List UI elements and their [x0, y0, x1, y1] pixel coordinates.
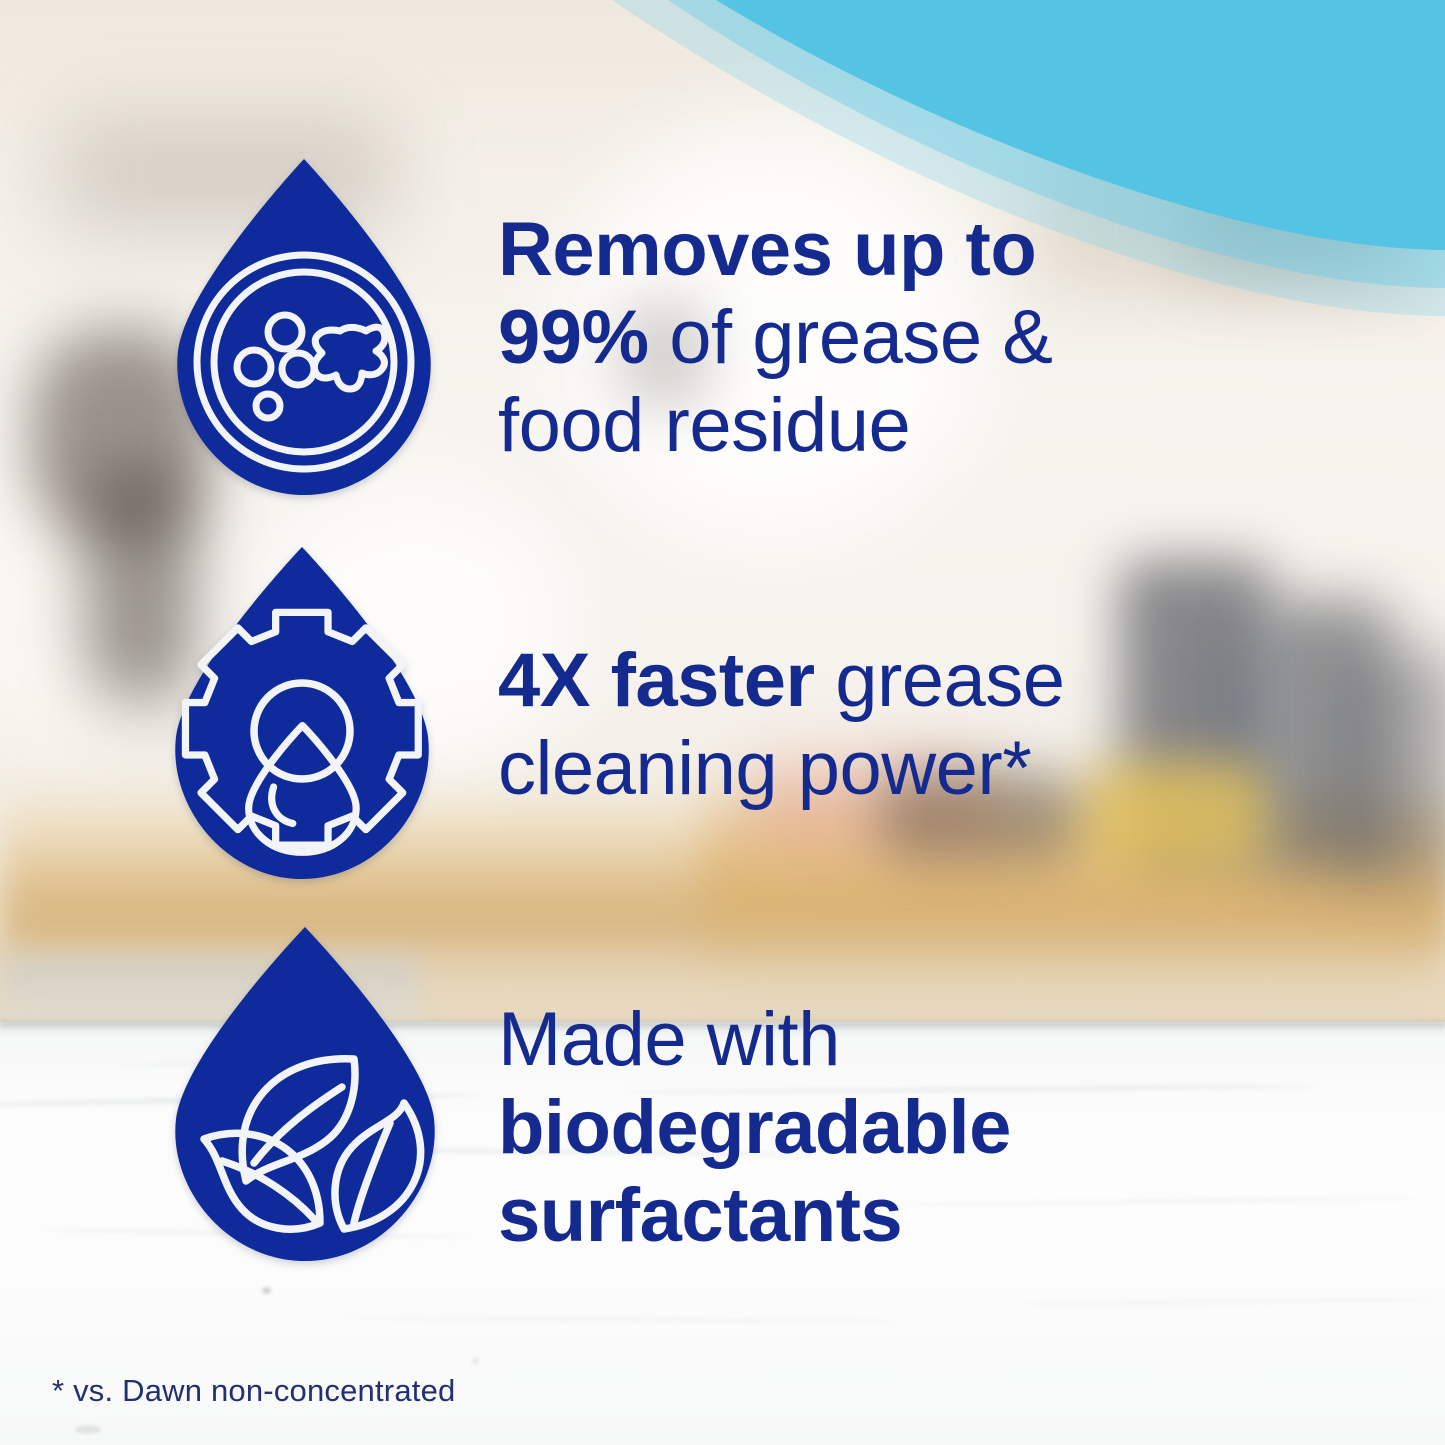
feature-icon-2: [168, 543, 436, 883]
feature-2-line-2: cleaning power*: [498, 725, 1065, 813]
feature-1-line-3-text: food residue: [498, 383, 910, 468]
feature-3-line-1-text: Made with: [498, 997, 840, 1082]
infographic-canvas: Removes up to 99% of grease & food resid…: [0, 0, 1445, 1445]
background-blur-shape: [1080, 760, 1270, 870]
feature-1-stat: 99%: [498, 295, 649, 380]
feature-1-line-1: Removes up to: [498, 206, 1052, 294]
feature-2-stat: 4X faster: [498, 638, 815, 723]
feature-3-line-1: Made with: [498, 996, 1011, 1084]
feature-icon-1: [170, 155, 438, 499]
feature-icon-3: [168, 923, 442, 1265]
feature-text-2: 4X faster grease cleaning power*: [498, 637, 1065, 813]
background-blur-shape: [1190, 150, 1390, 270]
feature-3-line-2-text: biodegradable: [498, 1085, 1011, 1170]
plate-with-bubbles-and-stain-icon: [170, 155, 438, 499]
marble-speck: [75, 1425, 101, 1434]
footnote-disclaimer: * vs. Dawn non-concentrated: [52, 1373, 455, 1409]
feature-1-line-2: 99% of grease &: [498, 294, 1052, 382]
feature-3-line-3: surfactants: [498, 1172, 1011, 1260]
marble-speck: [262, 1287, 271, 1294]
feature-3-line-2: biodegradable: [498, 1084, 1011, 1172]
feature-2-line-1: 4X faster grease: [498, 637, 1065, 725]
background-blur-shape: [1340, 650, 1445, 880]
feature-text-1: Removes up to 99% of grease & food resid…: [498, 206, 1052, 470]
feature-1-line-2-rest: of grease &: [649, 295, 1053, 380]
marble-speck: [472, 1358, 479, 1364]
feature-3-line-3-text: surfactants: [498, 1173, 902, 1258]
feature-2-line-1-rest: grease: [815, 638, 1065, 723]
feature-2-line-2-text: cleaning power*: [498, 726, 1031, 811]
recycling-leaves-icon: [168, 923, 442, 1265]
feature-text-3: Made with biodegradable surfactants: [498, 996, 1011, 1260]
feature-1-line-1-bold: Removes up to: [498, 207, 1036, 292]
feature-1-line-3: food residue: [498, 382, 1052, 470]
gear-with-droplet-icon: [168, 543, 436, 883]
